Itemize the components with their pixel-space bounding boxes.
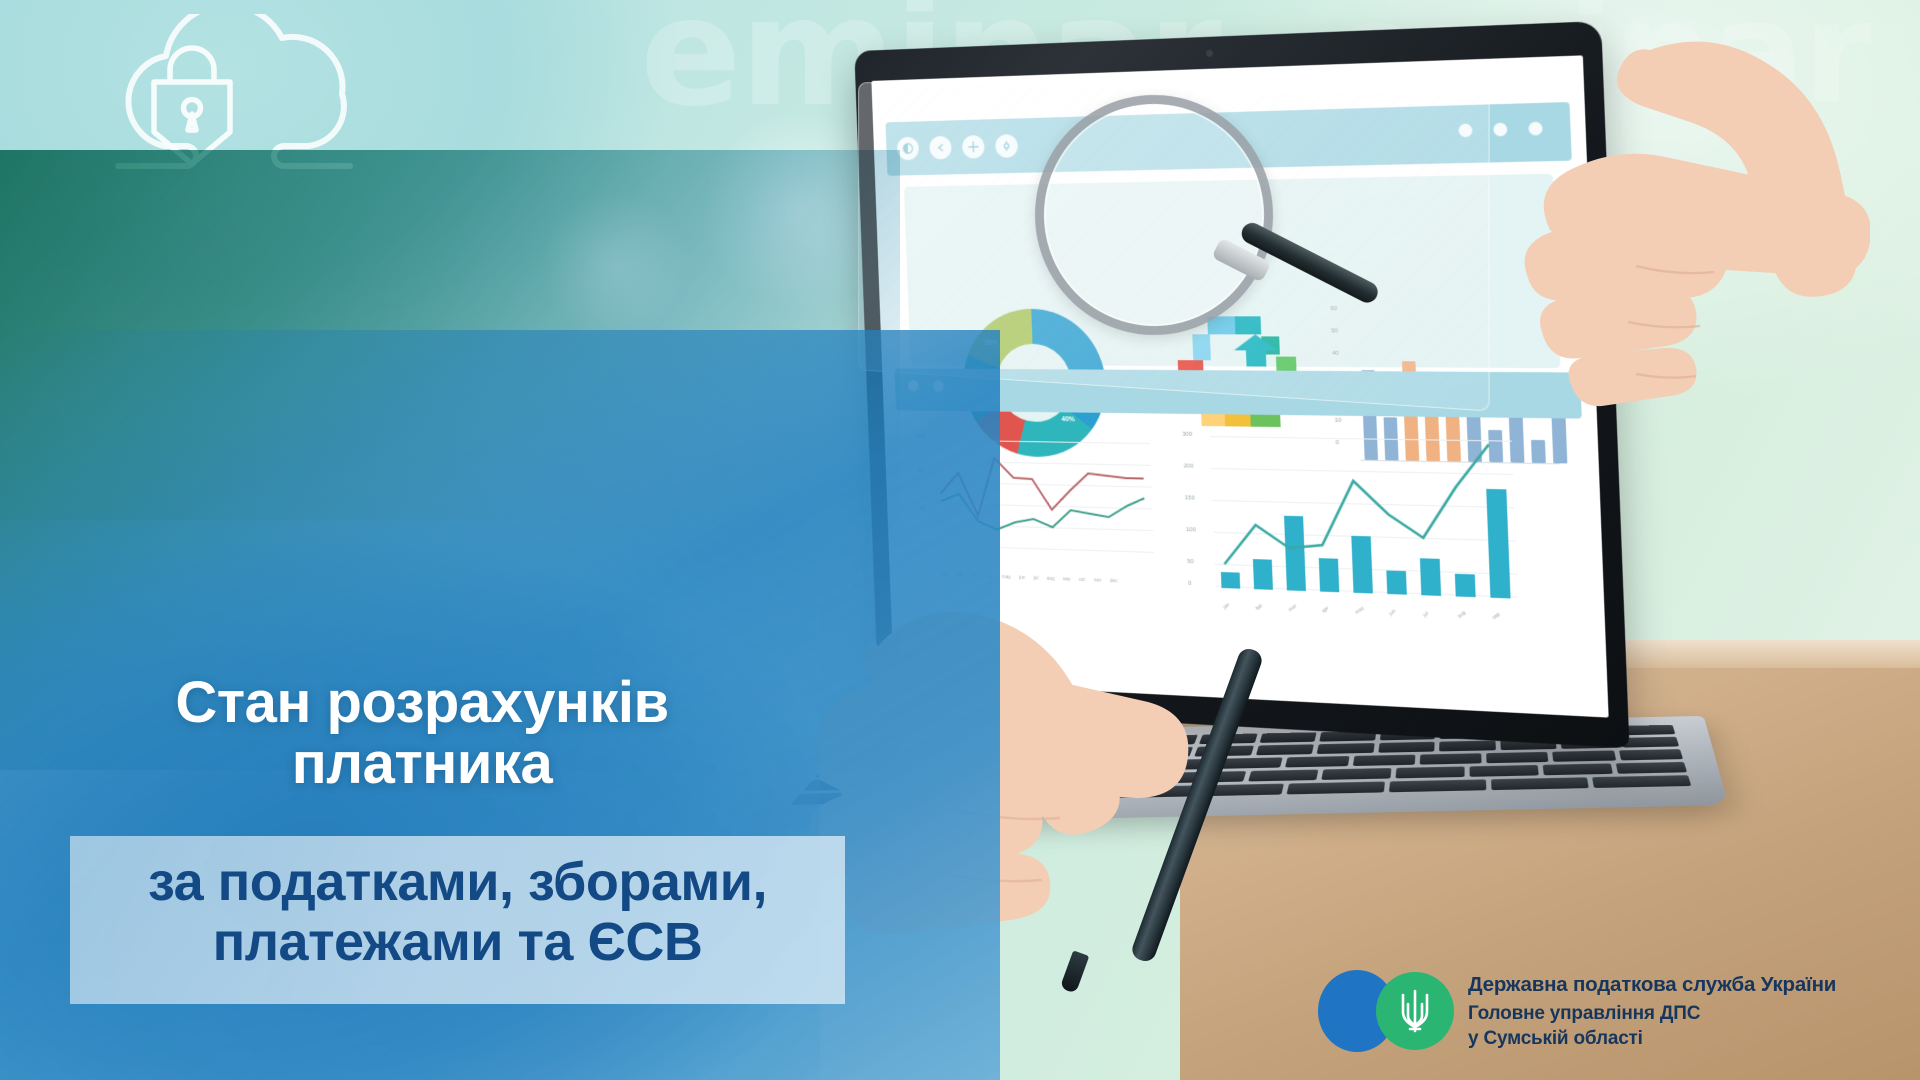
headline-line-1: Стан розрахунків (72, 672, 772, 733)
logo-mark (1318, 970, 1450, 1052)
move-icon[interactable] (962, 135, 985, 159)
logo-dept-line-2: у Сумській області (1468, 1027, 1836, 1052)
dps-logo: Державна податкова служба України Головн… (1318, 970, 1836, 1052)
banner-canvas: eminar eminar (0, 0, 1920, 1080)
window-dot[interactable] (1528, 122, 1542, 136)
subtitle-line-2: платежами та ЄСВ (70, 912, 845, 972)
contrast-icon[interactable] (897, 137, 919, 161)
share-icon[interactable] (929, 136, 952, 160)
bar-line-chart-x-labels: janfebmaraprmay junjulaugsep (1222, 606, 1511, 623)
headline-line-2: платника (72, 733, 772, 794)
settings-icon[interactable] (995, 134, 1018, 158)
window-controls[interactable] (1458, 122, 1542, 138)
bar-line-chart: 300 200 150 100 50 0 (1180, 428, 1523, 630)
window-dot[interactable] (1493, 123, 1507, 137)
donut-slice-label: 40% (1061, 416, 1074, 423)
bar-line-chart-trend (1180, 428, 1522, 610)
logo-circle-green (1376, 972, 1454, 1050)
webcam-dot (1206, 50, 1213, 57)
page-title: Стан розрахунків платника (72, 672, 772, 795)
page-subtitle: за податками, зборами, платежами та ЄСВ (70, 852, 845, 973)
window-dot[interactable] (1458, 124, 1472, 138)
toolbar-icon-group[interactable] (897, 134, 1018, 160)
logo-dept-line-1: Головне управління ДПС (1468, 1002, 1836, 1027)
tryzub-icon (1395, 986, 1435, 1036)
logo-org-name: Державна податкова служба України (1468, 971, 1836, 998)
subtitle-line-1: за податками, зборами, (70, 852, 845, 912)
logo-text-block: Державна податкова служба України Головн… (1468, 971, 1836, 1052)
dashboard-main-panel: 35% 40% (904, 174, 1560, 369)
